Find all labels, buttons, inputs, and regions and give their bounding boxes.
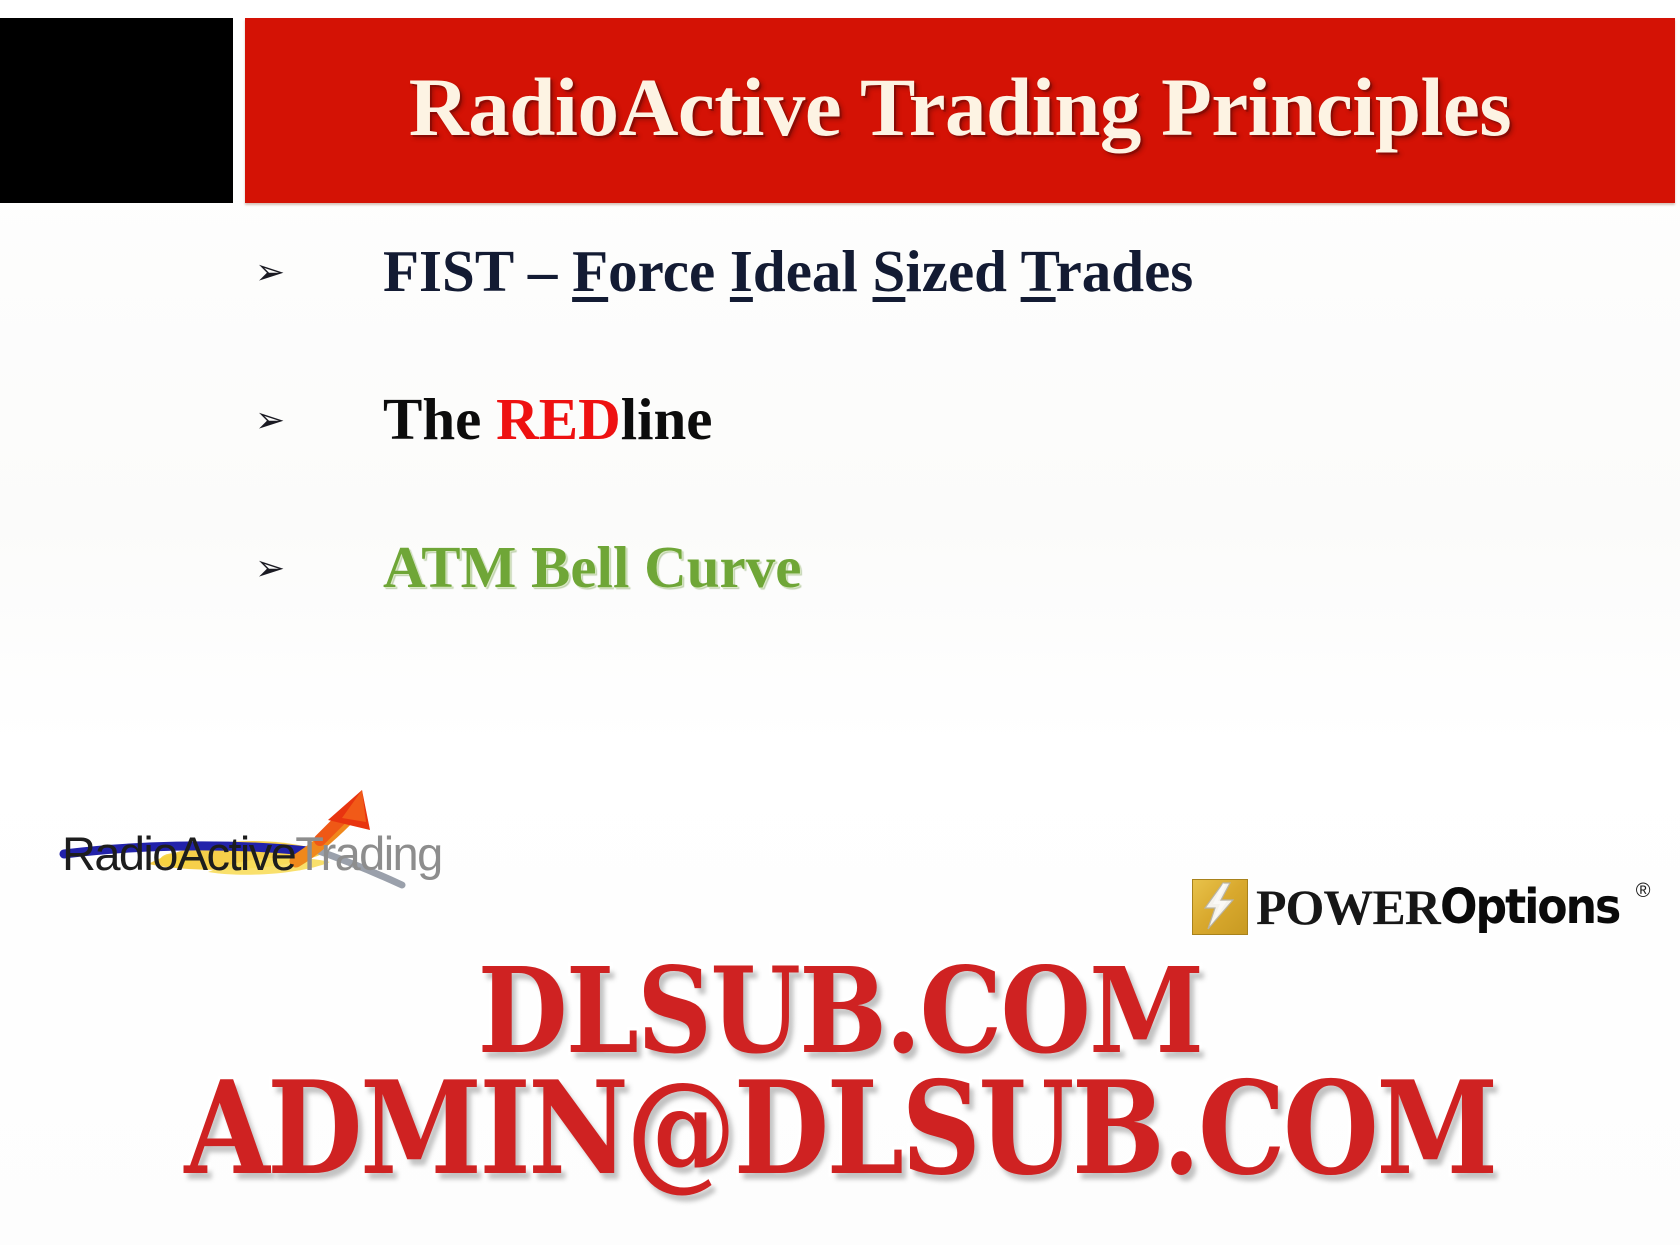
bullet-item-redline: ➢ The REDline	[0, 388, 1680, 536]
rat-word-radioactive: RadioActive	[62, 827, 295, 880]
bullet-arrow-icon: ➢	[255, 538, 315, 600]
fist-letter-f: F	[572, 238, 608, 304]
bullet-item-fist-label: FIST – Force Ideal Sized Trades	[383, 240, 1680, 302]
poweroptions-word-options: Options	[1440, 883, 1619, 931]
fist-letter-i: I	[730, 238, 753, 304]
atm-bell-curve-text: ATM Bell Curve	[383, 534, 801, 600]
header-black-block	[0, 18, 233, 203]
poweroptions-word-power: POWER	[1256, 882, 1440, 932]
bullet-item-atm-bell-curve: ➢ ATM Bell Curve	[0, 536, 1680, 684]
bullet-item-atm-bell-curve-label: ATM Bell Curve	[383, 536, 1680, 598]
redline-word-the: The	[383, 386, 496, 452]
rat-word-trading: Trading	[295, 827, 441, 880]
registered-trademark-icon: ®	[1636, 880, 1651, 903]
fist-letter-t: T	[1021, 238, 1056, 304]
bullet-item-fist: ➢ FIST – Force Ideal Sized Trades	[0, 240, 1680, 388]
redline-word-line: line	[621, 386, 713, 452]
bullet-item-redline-label: The REDline	[383, 388, 1680, 450]
page-title: RadioActive Trading Principles	[409, 66, 1511, 155]
slide-canvas: RadioActive Trading Principles ➢ FIST – …	[0, 0, 1680, 1245]
radioactive-trading-logo: RadioActiveTrading	[58, 768, 458, 893]
bullet-arrow-icon: ➢	[255, 390, 315, 452]
radioactive-trading-wordmark: RadioActiveTrading	[62, 830, 442, 877]
fist-word-trades: rades	[1056, 238, 1194, 304]
fist-word-ideal: deal	[753, 238, 873, 304]
fist-word-sized: ized	[905, 238, 1020, 304]
watermark-email: ADMIN@DLSUB.COM	[118, 1065, 1563, 1193]
bullet-arrow-icon: ➢	[255, 242, 315, 304]
fist-letter-s: S	[873, 238, 906, 304]
poweroptions-logo: POWEROptions®	[1192, 876, 1651, 938]
bullet-list: ➢ FIST – Force Ideal Sized Trades ➢ The …	[0, 240, 1680, 684]
lightning-bolt-icon	[1192, 879, 1248, 935]
title-banner: RadioActive Trading Principles	[245, 18, 1675, 203]
fist-acronym: FIST –	[383, 238, 572, 304]
slide-header: RadioActive Trading Principles	[0, 18, 1680, 203]
redline-word-red: RED	[496, 386, 621, 452]
fist-word-force: orce	[608, 238, 730, 304]
watermark-site: DLSUB.COM	[101, 952, 1579, 1070]
